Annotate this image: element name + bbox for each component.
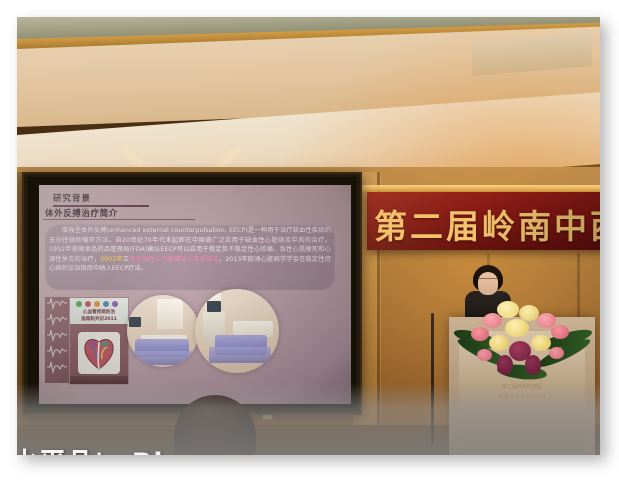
heart-anatomy-figure xyxy=(78,332,120,374)
ecg-waveform-panel xyxy=(45,297,69,383)
slide-title: 研究背景 xyxy=(53,192,149,204)
rose-4 xyxy=(551,325,569,339)
projection-screen-frame: 研究背景 体外反搏治疗简介 增强型体外反搏(enhanced external … xyxy=(22,172,362,415)
lily-4 xyxy=(489,335,509,351)
slide-body-bubble: 增强型体外反搏(enhanced external counterpulsati… xyxy=(45,224,335,290)
projection-screen: 研究背景 体外反搏治疗简介 增强型体外反搏(enhanced external … xyxy=(39,185,351,404)
watermark-scrim xyxy=(17,383,600,455)
book-title-line2: 指南和共识2011 xyxy=(70,316,128,322)
lily-5 xyxy=(531,335,551,351)
book-dot-4 xyxy=(103,301,109,307)
lily-3 xyxy=(505,319,529,337)
treatment-room-photo-2 xyxy=(195,289,279,373)
rose-6 xyxy=(549,347,564,359)
conference-photo: 第二届岭南中西 研究背景 体外反搏治疗简介 增强型体外反搏(enhanced e… xyxy=(17,17,600,455)
rose-5 xyxy=(477,349,492,361)
flower-arrangement xyxy=(453,299,593,385)
ecg-trace-svg xyxy=(45,297,69,383)
lily-2 xyxy=(519,305,539,321)
treatment-bed-2 xyxy=(209,347,271,363)
treatment-room-photo-1 xyxy=(127,295,199,367)
book-title-line1: 心血管疾病防治 xyxy=(70,309,128,315)
slide-subtitle: 体外反搏治疗简介 xyxy=(45,207,118,219)
banner-sheen xyxy=(367,192,600,250)
slide-subtitle-rule xyxy=(43,219,195,220)
monitor-2 xyxy=(207,301,221,312)
book-dot-1 xyxy=(76,301,82,307)
orchid-1 xyxy=(497,355,513,375)
speaker-glasses xyxy=(478,278,498,283)
monitor-1 xyxy=(129,317,141,327)
room-window-1 xyxy=(157,299,183,329)
book-dot-2 xyxy=(85,301,91,307)
banner-top-lightstrip xyxy=(357,185,600,192)
rose-1 xyxy=(483,313,502,328)
screenshot-root: 第二届岭南中西 研究背景 体外反搏治疗简介 增强型体外反搏(enhanced e… xyxy=(0,0,619,481)
slide-body-text: 增强型体外反搏(enhanced external counterpulsati… xyxy=(49,226,331,274)
treatment-bed-1 xyxy=(131,351,195,365)
orchid-2 xyxy=(525,355,541,375)
rose-3 xyxy=(471,327,489,341)
speaker-face xyxy=(478,272,498,295)
heart-icon xyxy=(82,335,116,371)
book-dot-5 xyxy=(112,301,118,307)
slide-title-block: 研究背景 xyxy=(53,192,149,207)
event-banner: 第二届岭南中西 xyxy=(367,192,600,250)
guideline-book-cover: 心血管疾病防治 指南和共识2011 xyxy=(69,297,129,385)
book-dot-3 xyxy=(94,301,100,307)
